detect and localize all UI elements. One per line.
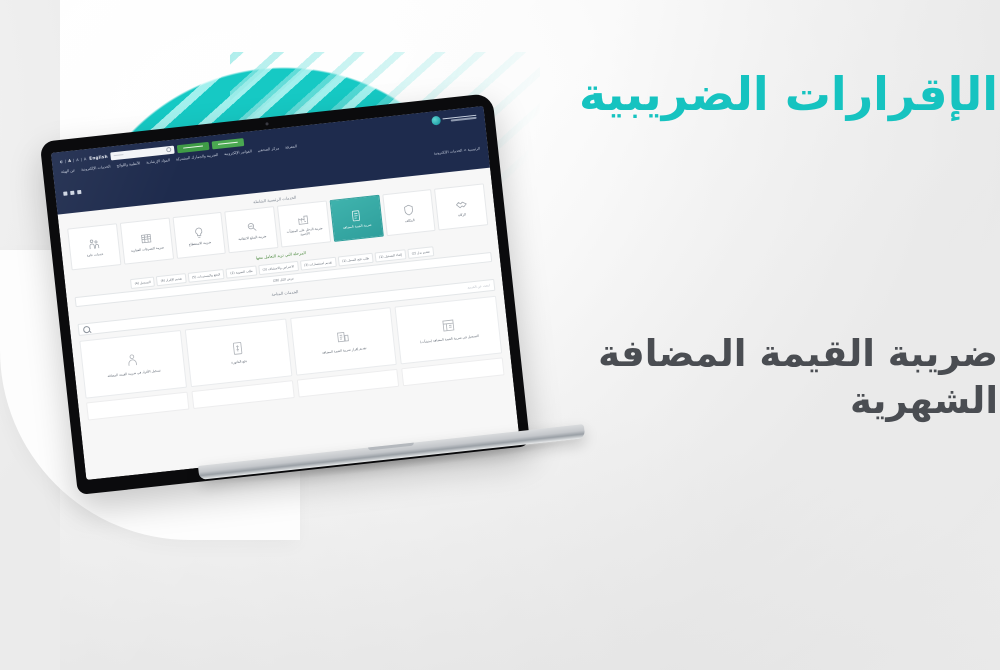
- bulb-icon: [132, 225, 146, 239]
- return-file-icon: [275, 329, 292, 346]
- poster-subhead-block: ضريبة القيمة المضافة الشهرية: [518, 330, 938, 425]
- filter-chip[interactable]: إلغاء التسجيل (1): [315, 249, 347, 262]
- text-size-medium[interactable]: A: [16, 157, 19, 161]
- service-card-zakat[interactable]: الزكاة: [374, 183, 428, 230]
- filter-chip[interactable]: التسجيل (4): [70, 277, 95, 290]
- service-result-card[interactable]: تسجيل الأفراد في ضريبة القيمة المضافة: [19, 330, 126, 399]
- service-card-label: الزكاة: [398, 212, 406, 217]
- filter-chip[interactable]: تقديم بدل (2): [347, 246, 374, 259]
- zatca-logo-icon: [371, 116, 381, 126]
- service-card-vat[interactable]: ضريبة القيمة المضافة: [269, 195, 323, 242]
- handshake-icon: [394, 197, 408, 211]
- service-search-placeholder: ابحث عن الخدمة: [407, 283, 430, 289]
- service-card-income-tax[interactable]: ضريبة الدخل على المنشآت الأجنبية: [217, 200, 271, 247]
- service-card-people[interactable]: خدمات عامة: [7, 223, 61, 270]
- star-icon[interactable]: [3, 191, 7, 195]
- page-title: الإقرارات الضريبية: [518, 70, 938, 120]
- shield-icon: [341, 202, 355, 216]
- search-placeholder: [54, 154, 64, 157]
- laptop-mockup: English A| A| A| ◐ عن الهيئة الخدمات الإ…: [10, 130, 530, 520]
- header-search-input[interactable]: [50, 145, 114, 160]
- accent-bar-top-right: [986, 92, 1000, 204]
- magnifier-icon: [184, 220, 198, 234]
- service-result-card[interactable]: تقديم إقرار ضريبة القيمة المضافة: [230, 307, 337, 376]
- service-result-card[interactable]: التسجيل في ضريبة القيمة المضافة (منشآت): [335, 296, 442, 365]
- nav-item-0[interactable]: عن الهيئة: [1, 168, 16, 174]
- accent-bar-bottom-right: [986, 532, 1000, 624]
- laptop-lid: English A| A| A| ◐ عن الهيئة الخدمات الإ…: [0, 93, 470, 495]
- service-card-real-estate[interactable]: ضريبة التصرفات العقارية: [60, 218, 114, 265]
- service-card-label: خدمات عامة: [26, 251, 43, 257]
- text-size-small[interactable]: A: [24, 157, 27, 161]
- nav-item-2[interactable]: الأنظمة واللوائح: [56, 161, 80, 168]
- service-card-label: ضريبة القيمة المضافة: [283, 222, 312, 229]
- text-size-large[interactable]: A: [8, 158, 11, 162]
- webcam-icon: [205, 122, 208, 125]
- service-result-label: دفع الفاتورة: [171, 359, 187, 365]
- person-register-icon: [64, 352, 81, 369]
- invoice-pay-icon: [170, 341, 187, 358]
- print-icon[interactable]: [10, 191, 14, 195]
- service-card-label: ضريبة الدخل على المنشآت الأجنبية: [223, 225, 267, 238]
- page-tools: [3, 190, 21, 196]
- contrast-toggle[interactable]: ◐: [0, 159, 3, 163]
- nav-item-5[interactable]: الفواتير الإلكترونية: [164, 149, 192, 156]
- factory-icon: [236, 212, 250, 226]
- service-result-label: التسجيل في ضريبة القيمة المضافة (منشآت): [360, 334, 419, 345]
- poster-headline-block: الإقرارات الضريبية: [518, 70, 938, 120]
- utility-controls: English A| A| A| ◐: [0, 138, 184, 166]
- zatca-website: English A| A| A| ◐ عن الهيئة الخدمات الإ…: [0, 106, 459, 480]
- filter-chip[interactable]: طلب التسوية (2): [166, 265, 197, 278]
- language-switch[interactable]: English: [29, 154, 48, 161]
- service-result-card[interactable]: دفع الفاتورة: [125, 319, 232, 388]
- business-register-icon: [380, 318, 397, 335]
- service-card-excise[interactable]: ضريبة السلع الانتقائية: [164, 206, 218, 253]
- login-button[interactable]: [117, 141, 150, 152]
- filter-chip[interactable]: تقديم الإقرار (6): [96, 273, 126, 286]
- text-size-controls[interactable]: A| A| A| ◐: [0, 157, 26, 164]
- nav-item-3[interactable]: المواد الإرشادية: [86, 158, 110, 165]
- breadcrumb[interactable]: الرئيسية > الخدمات الإلكترونية: [374, 147, 421, 156]
- share-icon[interactable]: [17, 190, 21, 194]
- service-card-label: ضريبة الاستقطاع: [128, 240, 151, 246]
- document-icon: [289, 208, 303, 222]
- people-icon: [27, 237, 41, 251]
- service-result-label: تقديم إقرار ضريبة القيمة المضافة: [262, 346, 307, 355]
- laptop-screen: English A| A| A| ◐ عن الهيئة الخدمات الإ…: [0, 106, 459, 480]
- service-card-label: المكلف: [345, 218, 355, 223]
- building-icon: [79, 231, 93, 245]
- authority-name: [382, 114, 416, 122]
- service-result-label: تسجيل الأفراد في ضريبة القيمة المضافة: [47, 369, 101, 379]
- search-icon: [23, 325, 31, 333]
- service-card-withholding[interactable]: ضريبة الاستقطاع: [112, 212, 166, 259]
- nav-item-4[interactable]: الضريبة والجمارك المشتركة: [116, 153, 159, 162]
- nav-item-1[interactable]: الخدمات الإلكترونية: [21, 165, 51, 172]
- service-card-label: ضريبة السلع الانتقائية: [178, 234, 206, 241]
- service-card-label: ضريبة التصرفات العقارية: [71, 245, 104, 253]
- register-taxpayer-button[interactable]: [152, 138, 185, 149]
- page-subtitle: ضريبة القيمة المضافة الشهرية: [518, 330, 938, 425]
- service-card-taxpayer[interactable]: المكلف: [322, 189, 376, 236]
- search-icon: [106, 147, 112, 153]
